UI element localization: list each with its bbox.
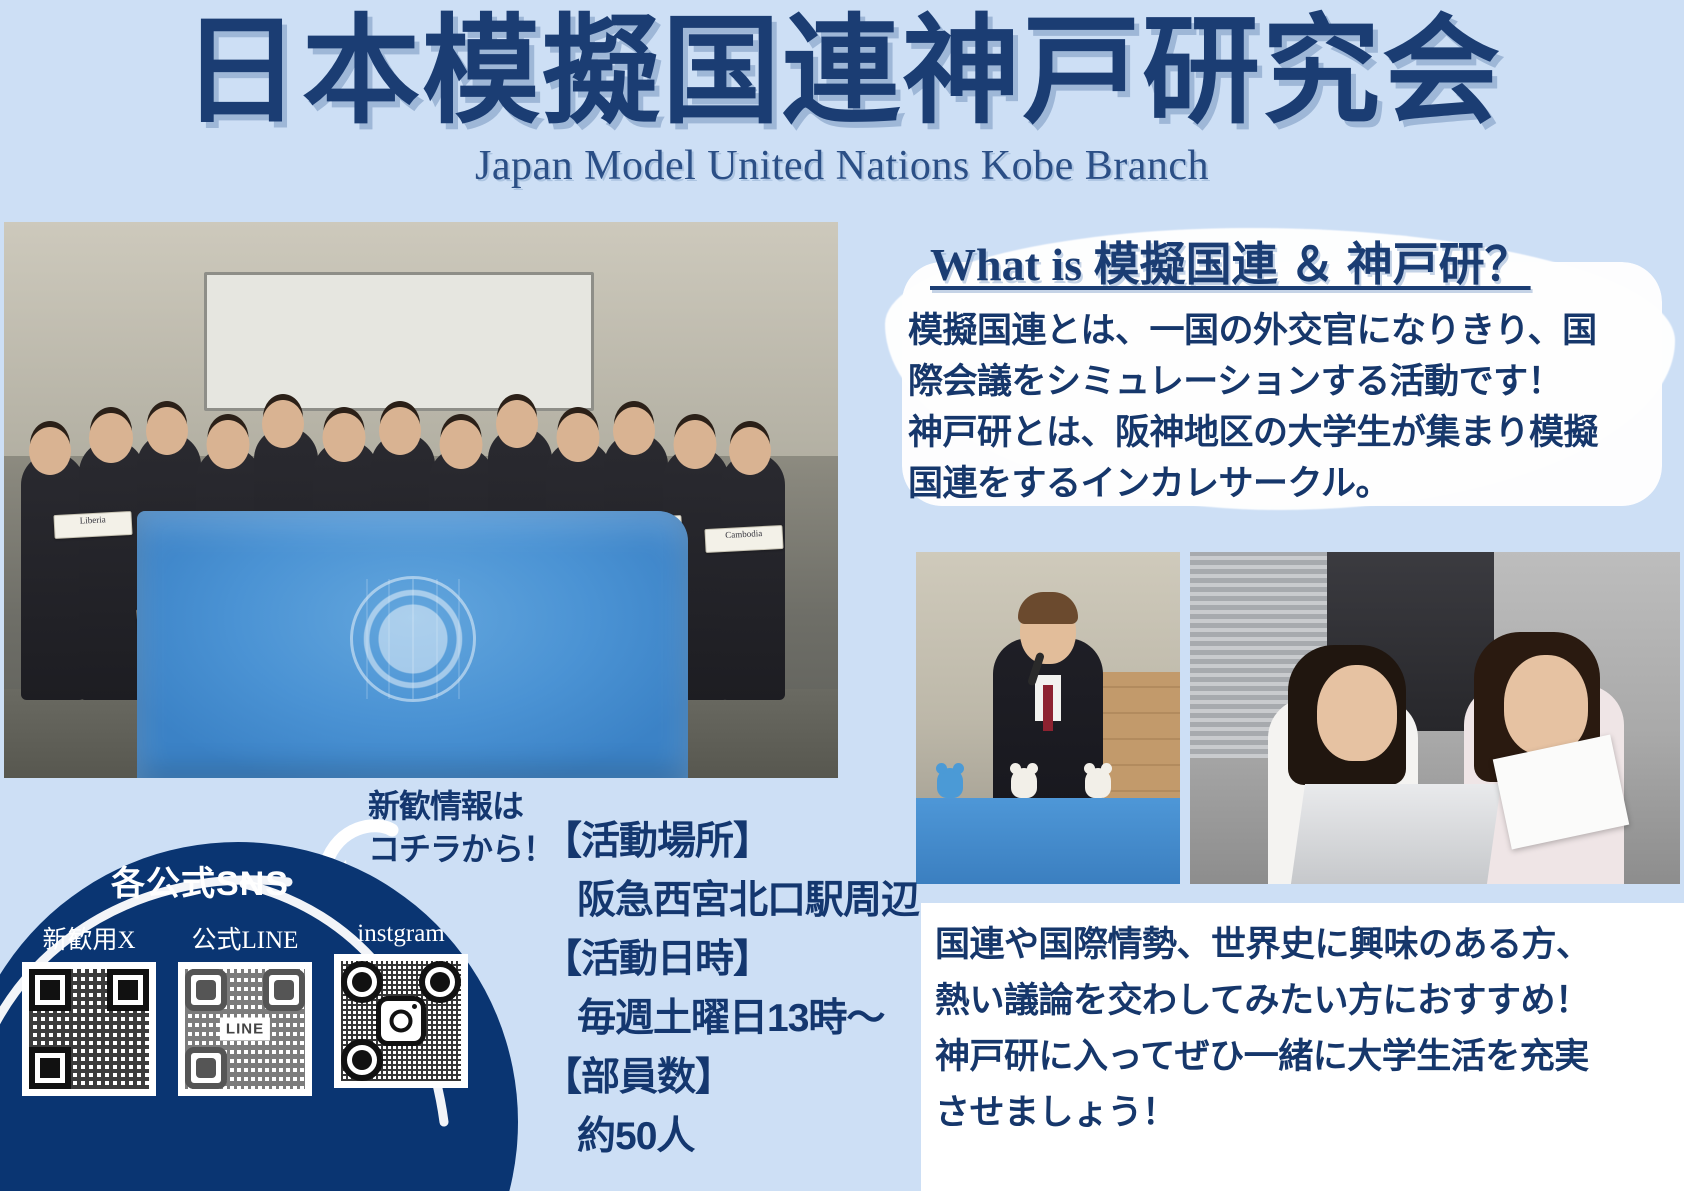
sns-item-line[interactable]: 公式LINE LINE bbox=[178, 920, 312, 1096]
about-body-line-2: 際会議をシミュレーションする活動です！ bbox=[908, 356, 1678, 407]
page-subtitle: Japan Model United Nations Kobe Branch bbox=[0, 142, 1684, 190]
sns-label-instagram: instgram bbox=[334, 920, 468, 948]
blue-bear-plush bbox=[937, 768, 963, 798]
speaker-photo bbox=[916, 552, 1180, 884]
about-body-line-3: 神戸研とは、阪神地区の大学生が集まり模擬 bbox=[908, 407, 1678, 458]
qr-finder-tl bbox=[341, 961, 383, 1003]
sns-label-x: 新歓用X bbox=[22, 920, 156, 956]
un-emblem-icon bbox=[333, 559, 493, 719]
instagram-icon bbox=[376, 996, 426, 1046]
sns-item-x[interactable]: 新歓用X bbox=[22, 920, 156, 1096]
info-members-label: 【部員数】 bbox=[543, 1048, 903, 1107]
poster-header: 日本模擬国連神戸研究会 Japan Model United Nations K… bbox=[0, 0, 1684, 200]
qr-finder-tr bbox=[419, 961, 461, 1003]
qr-finder-tr bbox=[107, 969, 149, 1011]
about-body-line-4: 国連をするインカレサークル。 bbox=[908, 458, 1678, 509]
appeal-line-3: 神戸研に入ってぜひ一緒に大学生活を充実 bbox=[935, 1029, 1675, 1085]
laptop-icon bbox=[1291, 784, 1501, 884]
about-body-line-1: 模擬国連とは、一国の外交官になりきり、国 bbox=[908, 305, 1678, 356]
activity-info: 【活動場所】 阪急西宮北口駅周辺 【活動日時】 毎週土曜日13時〜 【部員数】 … bbox=[543, 812, 903, 1166]
qr-code-line[interactable]: LINE bbox=[178, 962, 312, 1096]
placard: Liberia bbox=[53, 511, 132, 539]
info-place-label: 【活動場所】 bbox=[543, 812, 903, 871]
qr-finder-bl bbox=[29, 1047, 71, 1089]
about-heading: What is 模擬国連 ＆ 神戸研？ bbox=[930, 238, 1650, 292]
qr-finder-tr bbox=[263, 969, 305, 1011]
sns-qr-list: 新歓用X 公式LINE LINE instgram bbox=[22, 920, 468, 1096]
sns-title: 各公式SNS bbox=[60, 856, 340, 905]
students-photo bbox=[1190, 552, 1680, 884]
appeal-line-4: させましょう！ bbox=[935, 1085, 1675, 1141]
info-datetime-value: 毎週土曜日13時〜 bbox=[543, 989, 903, 1048]
info-datetime-label: 【活動日時】 bbox=[543, 930, 903, 989]
appeal-box: 国連や国際情勢、世界史に興味のある方、 熱い議論を交わしてみたい方におすすめ！ … bbox=[921, 903, 1684, 1191]
appeal-line-1: 国連や国際情勢、世界史に興味のある方、 bbox=[935, 917, 1675, 973]
appeal-line-2: 熱い議論を交わしてみたい方におすすめ！ bbox=[935, 973, 1675, 1029]
un-flag bbox=[137, 511, 687, 778]
white-bear-plush-2 bbox=[1085, 768, 1111, 798]
qr-finder-bl bbox=[185, 1047, 227, 1089]
qr-code-x[interactable] bbox=[22, 962, 156, 1096]
sns-label-line: 公式LINE bbox=[178, 920, 312, 956]
sns-item-instagram[interactable]: instgram bbox=[334, 920, 468, 1096]
info-members-value: 約50人 bbox=[543, 1107, 903, 1166]
poster-root: 日本模擬国連神戸研究会 Japan Model United Nations K… bbox=[0, 0, 1684, 1191]
line-glyph: LINE bbox=[220, 1018, 270, 1041]
group-photo: Liberia Brazil Albania Laos Thailand Con… bbox=[4, 222, 838, 778]
white-bear-plush bbox=[1011, 768, 1037, 798]
photo-speaker-hair bbox=[1018, 592, 1078, 624]
photo-student-left-face bbox=[1317, 665, 1397, 761]
qr-finder-tl bbox=[29, 969, 71, 1011]
photo-speaker-tie bbox=[1043, 685, 1053, 731]
appeal-text: 国連や国際情勢、世界史に興味のある方、 熱い議論を交わしてみたい方におすすめ！ … bbox=[935, 917, 1675, 1141]
info-place-value: 阪急西宮北口駅周辺 bbox=[543, 871, 903, 930]
page-title: 日本模擬国連神戸研究会 bbox=[0, 0, 1684, 142]
about-body: 模擬国連とは、一国の外交官になりきり、国 際会議をシミュレーションする活動です！… bbox=[908, 305, 1678, 509]
photo-table-flag bbox=[916, 798, 1180, 884]
qr-finder-bl bbox=[341, 1039, 383, 1081]
qr-code-instagram[interactable] bbox=[334, 954, 468, 1088]
photo-student-right-face bbox=[1504, 655, 1588, 755]
placard: Cambodia bbox=[704, 525, 783, 553]
qr-finder-tl bbox=[185, 969, 227, 1011]
